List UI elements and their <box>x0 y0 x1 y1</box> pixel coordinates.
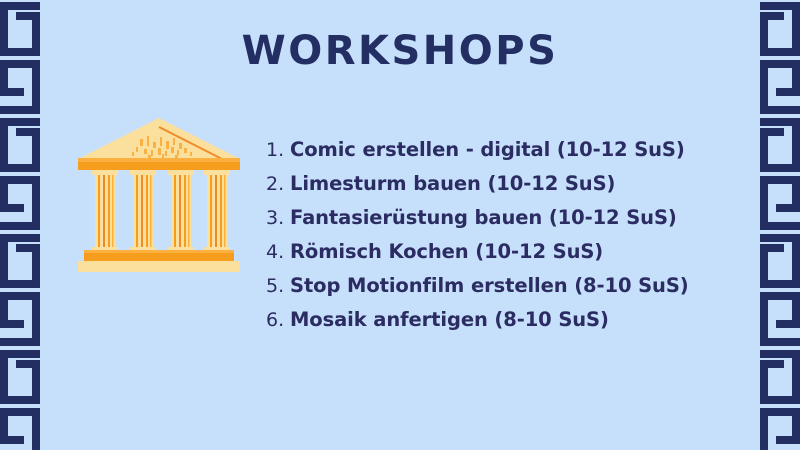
list-item-label: Fantasierüstung bauen (10-12 SuS) <box>290 206 677 229</box>
list-item-label: Stop Motionfilm erstellen (8-10 SuS) <box>290 274 689 297</box>
list-item-number: 4. <box>266 241 290 263</box>
list-item-label: Römisch Kochen (10-12 SuS) <box>290 240 603 263</box>
list-item-number: 3. <box>266 207 290 229</box>
list-item-number: 2. <box>266 173 290 195</box>
list-item: 1. Comic erstellen - digital (10-12 SuS) <box>266 138 766 172</box>
list-item: 3. Fantasierüstung bauen (10-12 SuS) <box>266 206 766 240</box>
greek-temple-illustration <box>78 116 240 274</box>
list-item: 6. Mosaik anfertigen (8-10 SuS) <box>266 308 766 342</box>
list-item: 5. Stop Motionfilm erstellen (8-10 SuS) <box>266 274 766 308</box>
list-item-label: Comic erstellen - digital (10-12 SuS) <box>290 138 685 161</box>
list-item-label: Limesturm bauen (10-12 SuS) <box>290 172 615 195</box>
workshop-list: 1. Comic erstellen - digital (10-12 SuS)… <box>266 138 766 342</box>
list-item-number: 5. <box>266 275 290 297</box>
list-item: 2. Limesturm bauen (10-12 SuS) <box>266 172 766 206</box>
list-item-number: 1. <box>266 139 290 161</box>
list-item: 4. Römisch Kochen (10-12 SuS) <box>266 240 766 274</box>
page-title: Workshops <box>0 28 800 74</box>
slide-canvas: Workshops <box>0 0 800 450</box>
list-item-label: Mosaik anfertigen (8-10 SuS) <box>290 308 609 331</box>
list-item-number: 6. <box>266 309 290 331</box>
